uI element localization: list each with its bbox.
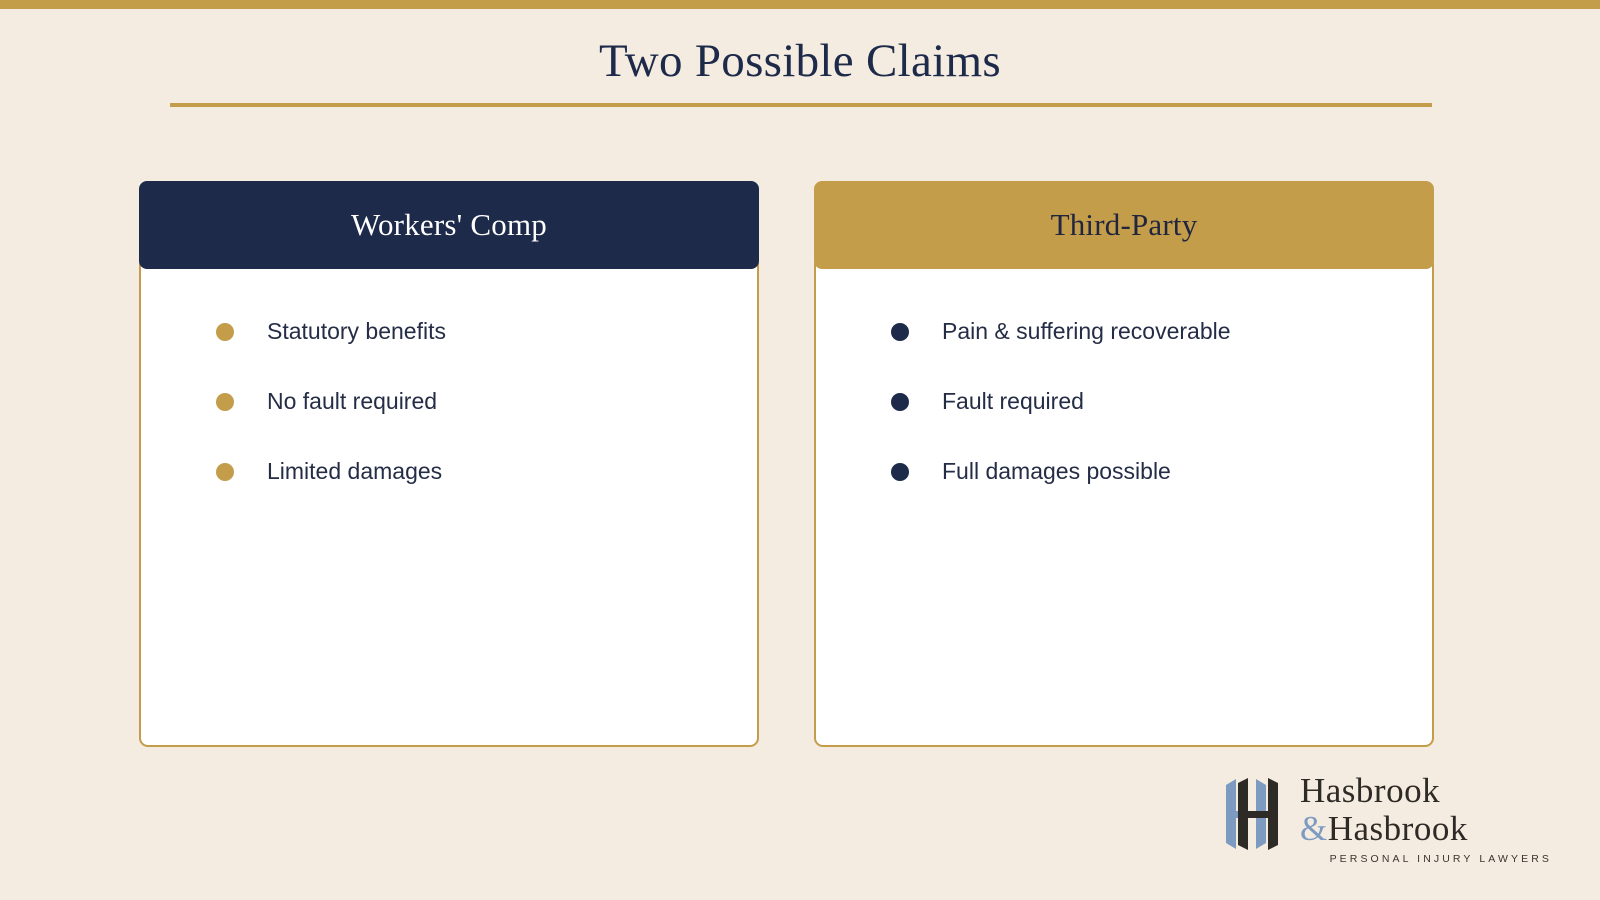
top-accent-bar: [0, 0, 1600, 9]
claims-card-group: Workers' Comp Statutory benefits No faul…: [0, 181, 1600, 751]
page-title: Two Possible Claims: [0, 34, 1600, 88]
list-item-label: Limited damages: [267, 458, 442, 486]
bullet-dot-icon: [891, 323, 909, 341]
list-item-label: Statutory benefits: [267, 318, 446, 346]
slide-canvas: Two Possible Claims Workers' Comp Statut…: [0, 0, 1600, 900]
list-item: Full damages possible: [846, 437, 1402, 507]
list-item: Fault required: [846, 367, 1402, 437]
brand-name-line-2-text: Hasbrook: [1328, 809, 1468, 848]
claim-card-body-workers-comp: Statutory benefits No fault required Lim…: [139, 263, 759, 747]
claim-card-workers-comp: Workers' Comp Statutory benefits No faul…: [139, 181, 759, 747]
bullet-dot-icon: [216, 463, 234, 481]
brand-logo: Hasbrook &Hasbrook PERSONAL INJURY LAWYE…: [1222, 772, 1552, 867]
list-item: No fault required: [171, 367, 727, 437]
bullet-list-third-party: Pain & suffering recoverable Fault requi…: [846, 297, 1402, 507]
list-item-label: Fault required: [942, 388, 1084, 416]
brand-name-line-2: &Hasbrook: [1300, 810, 1552, 848]
bullet-list-workers-comp: Statutory benefits No fault required Lim…: [171, 297, 727, 507]
list-item-label: No fault required: [267, 388, 437, 416]
brand-tagline: PERSONAL INJURY LAWYERS: [1300, 853, 1552, 865]
brand-wordmark: Hasbrook &Hasbrook PERSONAL INJURY LAWYE…: [1300, 772, 1552, 865]
list-item-label: Pain & suffering recoverable: [942, 318, 1231, 346]
list-item: Pain & suffering recoverable: [846, 297, 1402, 367]
claim-card-body-third-party: Pain & suffering recoverable Fault requi…: [814, 263, 1434, 747]
bullet-dot-icon: [891, 393, 909, 411]
claim-card-third-party: Third-Party Pain & suffering recoverable…: [814, 181, 1434, 747]
title-divider-rule: [170, 103, 1432, 107]
ampersand-glyph: &: [1300, 809, 1328, 848]
list-item: Limited damages: [171, 437, 727, 507]
claim-card-header-third-party: Third-Party: [814, 181, 1434, 269]
brand-name-line-1: Hasbrook: [1300, 772, 1552, 810]
bullet-dot-icon: [216, 393, 234, 411]
hh-monogram-icon: [1222, 775, 1288, 853]
list-item: Statutory benefits: [171, 297, 727, 367]
list-item-label: Full damages possible: [942, 458, 1171, 486]
bullet-dot-icon: [216, 323, 234, 341]
bullet-dot-icon: [891, 463, 909, 481]
claim-card-header-workers-comp: Workers' Comp: [139, 181, 759, 269]
